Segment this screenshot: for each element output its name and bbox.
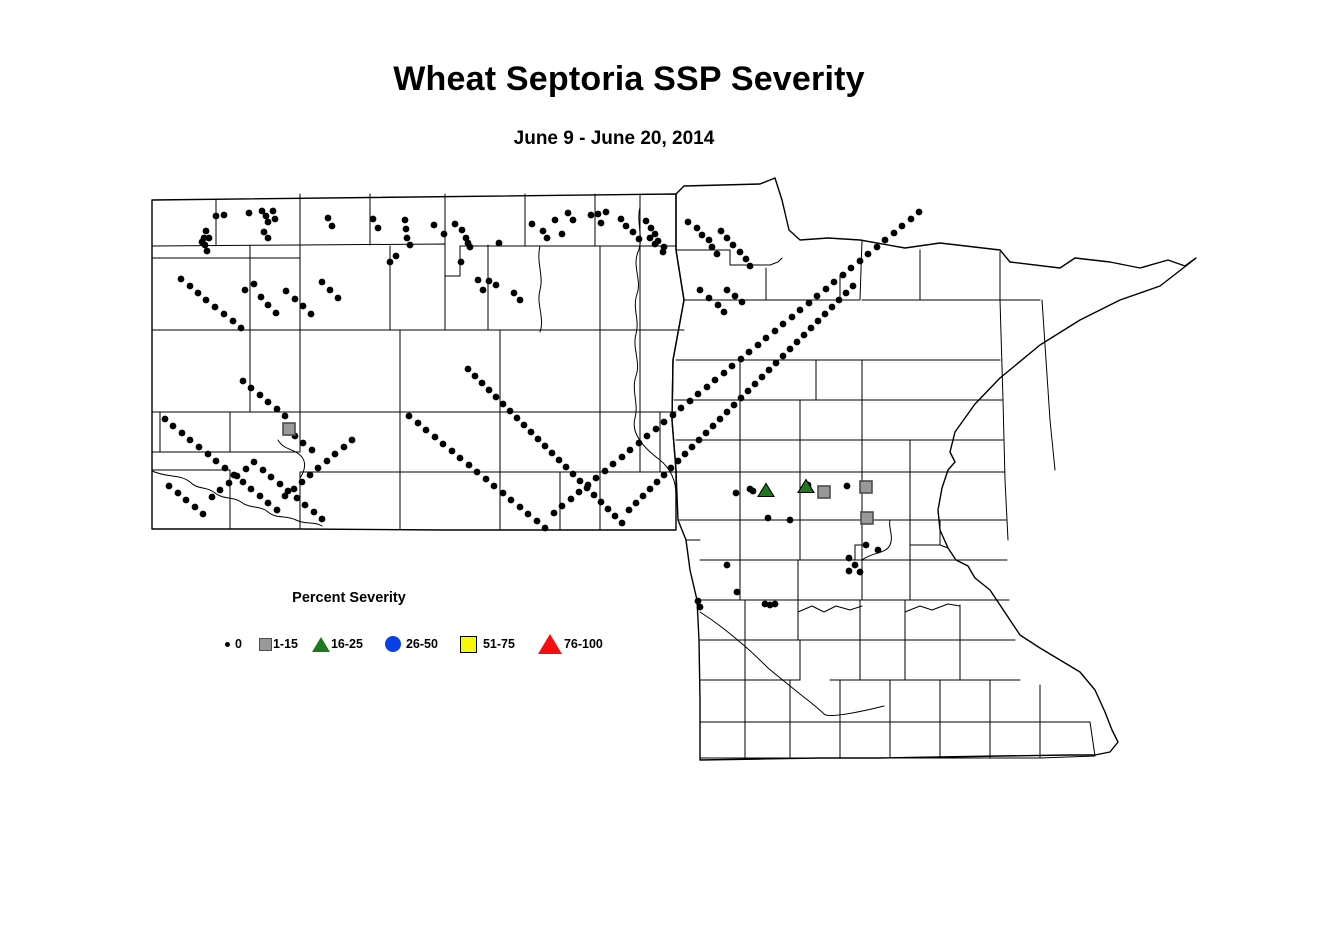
map-marker-severity-0 (465, 366, 472, 373)
map-marker-severity-0 (300, 440, 307, 447)
map-marker-severity-0 (457, 455, 464, 462)
map-marker-severity-0 (714, 251, 721, 258)
map-marker-severity-0 (309, 447, 316, 454)
map-marker-severity-0 (217, 487, 224, 494)
map-marker-severity-0 (282, 413, 289, 420)
map-marker-severity-0 (458, 259, 465, 266)
map-marker-severity-0 (467, 244, 474, 251)
map-marker-severity-0 (221, 311, 228, 318)
map-marker-severity-0 (178, 276, 185, 283)
map-marker-severity-0 (549, 450, 556, 457)
map-marker-severity-0 (588, 212, 595, 219)
map-marker-severity-0 (704, 384, 711, 391)
map-marker-severity-0 (349, 437, 356, 444)
map-marker-severity-0 (192, 504, 199, 511)
map-marker-severity-0 (493, 282, 500, 289)
map-marker-severity-0 (283, 288, 290, 295)
map-marker-severity-0 (570, 217, 577, 224)
map-marker-severity-0 (166, 483, 173, 490)
legend-label-0: 0 (235, 638, 242, 651)
map-marker-severity-0 (528, 429, 535, 436)
map-marker-severity-0 (863, 542, 870, 549)
map-marker-severity-0 (765, 515, 772, 522)
map-marker-severity-0 (724, 562, 731, 569)
map-marker-severity-0 (718, 228, 725, 235)
map-marker-severity-0 (612, 513, 619, 520)
map-marker-severity-0 (801, 332, 808, 339)
map-marker-severity-0 (187, 437, 194, 444)
map-marker-severity-0 (619, 454, 626, 461)
map-marker-severity-0 (643, 218, 650, 225)
map-marker-severity-0 (653, 426, 660, 433)
map-marker-severity-0 (319, 279, 326, 286)
map-marker-severity-0 (230, 318, 237, 325)
map-marker-severity-0 (823, 286, 830, 293)
legend-label-1-15: 1-15 (273, 638, 298, 651)
map-marker-severity-0 (483, 476, 490, 483)
map-marker-severity-0 (311, 509, 318, 516)
map-marker-severity-0 (891, 230, 898, 237)
map-marker-severity-0 (559, 231, 566, 238)
map-marker-severity-0 (733, 490, 740, 497)
map-marker-severity-0 (844, 483, 851, 490)
legend-item-76-100: 76-100 (538, 634, 603, 654)
map-marker-severity-0 (738, 356, 745, 363)
legend-entries: 0 1-15 16-25 26-50 51-75 (225, 634, 603, 654)
map-marker-severity-0 (780, 321, 787, 328)
map-marker-severity-0 (772, 328, 779, 335)
map-marker-severity-0 (647, 486, 654, 493)
map-marker-severity-0 (325, 215, 332, 222)
map-marker-severity-0 (623, 223, 630, 230)
map-marker-severity-0 (731, 402, 738, 409)
map-marker-severity-0 (222, 465, 229, 472)
map-marker-severity-0 (302, 502, 309, 509)
map-marker-severity-0 (431, 222, 438, 229)
map-marker-severity-0 (213, 213, 220, 220)
map-marker-severity-0 (238, 325, 245, 332)
map-marker-severity-0 (242, 287, 249, 294)
map-marker-severity-0 (724, 409, 731, 416)
map-marker-severity-0 (696, 437, 703, 444)
map-marker-severity-0 (265, 235, 272, 242)
map-marker-severity-0 (618, 216, 625, 223)
map-marker-severity-0 (226, 480, 233, 487)
map-marker-severity-1-15 (818, 486, 830, 498)
map-marker-severity-0 (584, 485, 591, 492)
map-marker-severity-0 (712, 377, 719, 384)
map-marker-severity-0 (729, 363, 736, 370)
map-marker-severity-0 (203, 228, 210, 235)
map-marker-severity-1-15 (861, 512, 873, 524)
map-marker-severity-0 (508, 497, 515, 504)
map-marker-severity-0 (695, 598, 702, 605)
map-marker-severity-0 (517, 504, 524, 511)
map-marker-severity-0 (857, 569, 864, 576)
map-marker-severity-0 (375, 225, 382, 232)
map-marker-severity-0 (709, 244, 716, 251)
map-marker-severity-0 (743, 256, 750, 263)
map-marker-severity-0 (829, 304, 836, 311)
map-marker-severity-0 (591, 492, 598, 499)
map-marker-severity-0 (759, 374, 766, 381)
map-marker-severity-0 (602, 468, 609, 475)
map-marker-severity-0 (285, 488, 292, 495)
map-marker-severity-0 (710, 423, 717, 430)
map-marker-severity-0 (466, 462, 473, 469)
map-marker-severity-0 (593, 475, 600, 482)
map-marker-severity-0 (715, 302, 722, 309)
map-marker-severity-0 (260, 467, 267, 474)
map-canvas (0, 0, 1341, 926)
map-marker-severity-0 (703, 430, 710, 437)
map-marker-severity-0 (514, 415, 521, 422)
map-marker-severity-0 (525, 511, 532, 518)
map-marker-severity-0 (640, 493, 647, 500)
map-marker-severity-0 (670, 412, 677, 419)
map-marker-severity-0 (661, 472, 668, 479)
map-marker-severity-0 (162, 416, 169, 423)
map-marker-severity-0 (626, 507, 633, 514)
map-marker-severity-0 (315, 465, 322, 472)
map-marker-severity-0 (636, 440, 643, 447)
map-marker-severity-0 (393, 253, 400, 260)
map-marker-severity-0 (836, 297, 843, 304)
map-marker-severity-0 (675, 458, 682, 465)
legend-item-0: 0 (225, 638, 242, 651)
map-marker-severity-0 (619, 520, 626, 527)
map-marker-severity-0 (660, 249, 667, 256)
map-marker-severity-0 (678, 405, 685, 412)
map-marker-severity-0 (840, 272, 847, 279)
map-marker-severity-0 (787, 346, 794, 353)
map-legend: Percent Severity 0 1-15 16-25 26-50 (225, 590, 625, 606)
map-marker-severity-0 (299, 479, 306, 486)
map-marker-severity-0 (257, 493, 264, 500)
map-marker-severity-0 (772, 601, 779, 608)
legend-label-26-50: 26-50 (406, 638, 438, 651)
map-marker-severity-0 (294, 495, 301, 502)
map-marker-severity-0 (857, 258, 864, 265)
map-marker-severity-0 (745, 388, 752, 395)
map-marker-severity-0 (209, 494, 216, 501)
map-marker-severity-0 (706, 237, 713, 244)
map-marker-severity-0 (874, 244, 881, 251)
map-marker-severity-0 (332, 451, 339, 458)
map-marker-severity-0 (750, 488, 757, 495)
map-marker-severity-0 (403, 226, 410, 233)
severity-1-15-square-icon (259, 638, 272, 651)
map-marker-severity-0 (308, 311, 315, 318)
map-marker-severity-0 (806, 300, 813, 307)
map-marker-severity-0 (274, 406, 281, 413)
map-marker-severity-0 (475, 277, 482, 284)
map-marker-severity-0 (406, 413, 413, 420)
map-marker-severity-0 (556, 457, 563, 464)
map-data-markers (162, 208, 923, 611)
map-marker-severity-1-15 (860, 481, 872, 493)
map-marker-severity-0 (752, 381, 759, 388)
legend-item-26-50: 26-50 (385, 636, 438, 652)
map-marker-severity-0 (882, 237, 889, 244)
map-marker-severity-0 (258, 294, 265, 301)
severity-76-100-triangle-icon (538, 634, 562, 654)
map-marker-severity-0 (415, 420, 422, 427)
map-marker-severity-0 (203, 297, 210, 304)
map-marker-severity-0 (794, 339, 801, 346)
map-marker-severity-0 (787, 517, 794, 524)
map-marker-severity-0 (568, 496, 575, 503)
map-marker-severity-0 (644, 433, 651, 440)
map-marker-severity-0 (251, 459, 258, 466)
map-marker-severity-0 (449, 448, 456, 455)
map-marker-severity-0 (746, 349, 753, 356)
map-marker-severity-0 (773, 360, 780, 367)
map-marker-severity-0 (183, 497, 190, 504)
map-marker-severity-0 (404, 235, 411, 242)
map-marker-severity-0 (689, 444, 696, 451)
map-marker-severity-0 (170, 423, 177, 430)
map-marker-severity-0 (724, 287, 731, 294)
map-marker-severity-0 (496, 240, 503, 247)
map-marker-severity-0 (814, 293, 821, 300)
map-marker-severity-0 (335, 295, 342, 302)
map-marker-severity-0 (551, 510, 558, 517)
map-marker-severity-0 (534, 518, 541, 525)
map-marker-severity-0 (652, 241, 659, 248)
legend-item-16-25: 16-25 (312, 637, 363, 652)
map-marker-severity-0 (843, 290, 850, 297)
map-marker-severity-0 (848, 265, 855, 272)
map-marker-severity-0 (204, 248, 211, 255)
map-marker-severity-0 (270, 208, 277, 215)
map-marker-severity-0 (324, 458, 331, 465)
legend-label-51-75: 51-75 (483, 638, 515, 651)
map-marker-severity-0 (576, 489, 583, 496)
map-page: Wheat Septoria SSP Severity June 9 - Jun… (0, 0, 1341, 926)
map-marker-severity-0 (213, 458, 220, 465)
map-marker-severity-0 (565, 210, 572, 217)
map-marker-severity-0 (542, 443, 549, 450)
map-marker-severity-0 (265, 219, 272, 226)
map-marker-severity-0 (542, 525, 549, 532)
map-marker-severity-0 (175, 490, 182, 497)
map-marker-severity-0 (199, 239, 206, 246)
map-marker-severity-0 (251, 281, 258, 288)
map-marker-severity-0 (540, 228, 547, 235)
map-marker-severity-0 (486, 278, 493, 285)
map-svg (0, 0, 1341, 926)
map-marker-severity-0 (699, 232, 706, 239)
map-marker-severity-0 (179, 430, 186, 437)
map-marker-severity-0 (265, 500, 272, 507)
legend-label-76-100: 76-100 (564, 638, 603, 651)
map-marker-severity-0 (747, 263, 754, 270)
map-marker-severity-0 (822, 311, 829, 318)
map-marker-severity-0 (292, 296, 299, 303)
legend-item-1-15: 1-15 (259, 638, 298, 651)
map-marker-severity-0 (737, 249, 744, 256)
map-marker-severity-0 (200, 511, 207, 518)
map-marker-severity-0 (263, 213, 270, 220)
map-marker-severity-0 (627, 447, 634, 454)
map-marker-severity-0 (221, 212, 228, 219)
map-marker-severity-0 (850, 283, 857, 290)
map-marker-severity-0 (248, 385, 255, 392)
map-marker-severity-0 (205, 451, 212, 458)
map-marker-severity-0 (257, 392, 264, 399)
map-marker-severity-0 (480, 287, 487, 294)
map-marker-severity-0 (277, 481, 284, 488)
map-marker-severity-1-15 (283, 423, 295, 435)
map-marker-severity-0 (341, 444, 348, 451)
map-marker-severity-0 (300, 303, 307, 310)
map-marker-severity-0 (261, 229, 268, 236)
map-marker-severity-0 (605, 506, 612, 513)
map-marker-severity-0 (763, 335, 770, 342)
map-marker-severity-0 (697, 604, 704, 611)
map-marker-severity-0 (291, 486, 298, 493)
map-marker-severity-0 (797, 307, 804, 314)
map-marker-severity-0 (246, 210, 253, 217)
map-marker-severity-0 (265, 399, 272, 406)
map-marker-severity-0 (240, 378, 247, 385)
severity-0-dot-icon (225, 642, 230, 647)
map-marker-severity-0 (766, 367, 773, 374)
map-marker-severity-0 (730, 242, 737, 249)
map-county-borders (152, 194, 684, 529)
map-marker-severity-0 (899, 223, 906, 230)
map-marker-severity-0 (206, 235, 213, 242)
map-marker-severity-0 (517, 297, 524, 304)
map-marker-severity-0 (717, 416, 724, 423)
map-marker-severity-0 (407, 242, 414, 249)
map-marker-severity-0 (577, 478, 584, 485)
map-marker-severity-0 (732, 293, 739, 300)
map-marker-severity-0 (603, 209, 610, 216)
map-marker-severity-0 (273, 310, 280, 317)
map-marker-severity-0 (493, 394, 500, 401)
map-marker-severity-0 (402, 217, 409, 224)
map-marker-severity-0 (195, 290, 202, 297)
map-marker-severity-0 (724, 235, 731, 242)
map-marker-severity-0 (694, 225, 701, 232)
legend-label-16-25: 16-25 (331, 638, 363, 651)
map-marker-severity-0 (598, 499, 605, 506)
map-marker-severity-0 (507, 408, 514, 415)
map-marker-severity-0 (307, 472, 314, 479)
map-marker-severity-0 (633, 500, 640, 507)
map-marker-severity-0 (721, 309, 728, 316)
map-marker-severity-0 (595, 211, 602, 218)
map-marker-severity-0 (319, 516, 326, 523)
map-marker-severity-0 (387, 259, 394, 266)
map-marker-severity-0 (846, 555, 853, 562)
map-marker-severity-0 (789, 314, 796, 321)
map-marker-severity-0 (500, 401, 507, 408)
map-marker-severity-0 (486, 387, 493, 394)
map-marker-severity-0 (535, 436, 542, 443)
severity-26-50-circle-icon (385, 636, 401, 652)
map-marker-severity-0 (636, 236, 643, 243)
map-marker-severity-0 (544, 235, 551, 242)
map-marker-severity-0 (706, 295, 713, 302)
map-marker-severity-0 (529, 221, 536, 228)
map-marker-severity-0 (661, 419, 668, 426)
map-marker-severity-0 (815, 318, 822, 325)
map-marker-severity-0 (865, 251, 872, 258)
severity-51-75-square-icon (460, 636, 477, 653)
map-marker-severity-0 (329, 223, 336, 230)
map-marker-severity-0 (491, 483, 498, 490)
map-marker-severity-0 (472, 373, 479, 380)
map-marker-severity-0 (697, 287, 704, 294)
map-marker-severity-0 (739, 299, 746, 306)
map-marker-severity-0 (196, 444, 203, 451)
map-marker-severity-0 (598, 220, 605, 227)
map-marker-severity-0 (630, 229, 637, 236)
map-marker-severity-0 (831, 279, 838, 286)
map-marker-severity-0 (474, 469, 481, 476)
map-marker-severity-0 (440, 441, 447, 448)
map-marker-severity-0 (187, 283, 194, 290)
map-marker-severity-0 (272, 216, 279, 223)
map-marker-severity-0 (654, 479, 661, 486)
map-marker-severity-0 (610, 461, 617, 468)
map-marker-severity-0 (511, 290, 518, 297)
map-marker-severity-0 (734, 589, 741, 596)
map-marker-severity-0 (721, 370, 728, 377)
map-marker-severity-0 (521, 422, 528, 429)
legend-item-51-75: 51-75 (460, 636, 515, 653)
map-marker-severity-0 (240, 479, 247, 486)
map-marker-severity-0 (212, 304, 219, 311)
map-marker-severity-0 (552, 217, 559, 224)
map-marker-severity-0 (685, 219, 692, 226)
map-marker-severity-0 (452, 221, 459, 228)
map-marker-severity-0 (370, 216, 377, 223)
map-marker-severity-0 (738, 395, 745, 402)
map-marker-severity-0 (852, 562, 859, 569)
map-marker-severity-0 (695, 391, 702, 398)
map-marker-severity-0 (441, 231, 448, 238)
severity-16-25-triangle-icon (312, 637, 330, 652)
map-marker-severity-0 (916, 209, 923, 216)
legend-title: Percent Severity (225, 590, 473, 606)
map-marker-severity-0 (559, 503, 566, 510)
map-marker-severity-0 (570, 471, 577, 478)
map-marker-severity-0 (248, 486, 255, 493)
map-marker-severity-0 (268, 474, 275, 481)
map-marker-severity-16-25 (758, 484, 774, 497)
map-marker-severity-0 (875, 547, 882, 554)
map-marker-severity-0 (234, 473, 241, 480)
map-marker-severity-0 (908, 216, 915, 223)
map-county-borders-mn (674, 240, 1095, 758)
map-marker-severity-0 (780, 353, 787, 360)
map-marker-severity-0 (687, 398, 694, 405)
map-marker-severity-0 (265, 302, 272, 309)
map-marker-severity-0 (423, 427, 430, 434)
map-marker-severity-0 (647, 235, 654, 242)
map-marker-severity-0 (648, 225, 655, 232)
map-marker-severity-0 (682, 451, 689, 458)
map-marker-severity-0 (808, 325, 815, 332)
map-marker-severity-0 (243, 466, 250, 473)
map-marker-severity-0 (432, 434, 439, 441)
map-marker-severity-0 (459, 227, 466, 234)
map-marker-severity-0 (668, 465, 675, 472)
